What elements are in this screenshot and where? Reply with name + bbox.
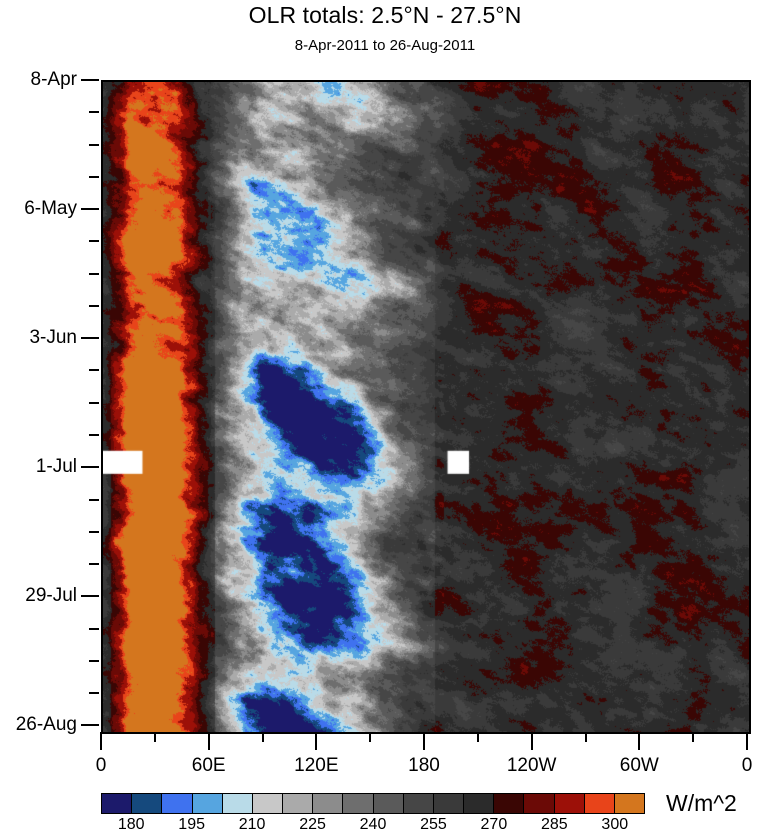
y-axis-tick-label: 29-Jul (25, 585, 77, 607)
colorbar-tick-label: 285 (541, 816, 568, 834)
colorbar-swatch (253, 794, 283, 813)
y-axis-minor-tick (89, 402, 99, 404)
y-axis-tick-label: 26-Aug (16, 714, 77, 736)
x-axis-minor-tick (692, 732, 694, 742)
x-axis-tick-label: 120E (294, 755, 338, 777)
y-axis-minor-tick (89, 692, 99, 694)
y-axis-minor-tick (89, 240, 99, 242)
y-axis-minor-tick (89, 499, 99, 501)
colorbar-tick-label: 240 (360, 816, 387, 834)
colorbar-tick-label: 180 (118, 816, 145, 834)
x-axis-minor-tick (369, 732, 371, 742)
y-axis-tick-label: 6-May (24, 198, 77, 220)
colorbar-swatch (193, 794, 223, 813)
y-axis-major-tick (81, 595, 99, 597)
x-axis-major-tick (746, 732, 748, 750)
x-axis-tick-label: 60E (192, 755, 226, 777)
y-axis-minor-tick (89, 628, 99, 630)
y-axis-major-tick (81, 208, 99, 210)
x-axis-tick-label: 120W (507, 755, 557, 777)
colorbar-swatch (374, 794, 404, 813)
colorbar-swatch (283, 794, 313, 813)
y-axis-tick-label: 1-Jul (36, 456, 77, 478)
x-axis-major-tick (638, 732, 640, 750)
colorbar-units-label: W/m^2 (666, 790, 737, 817)
colorbar-swatch (615, 794, 644, 813)
x-axis-tick-label: 180 (408, 755, 440, 777)
colorbar-swatch (494, 794, 524, 813)
colorbar-swatch (132, 794, 162, 813)
colorbar-tick-label: 195 (178, 816, 205, 834)
x-axis-tick-label: 0 (742, 755, 753, 777)
x-axis-major-tick (100, 732, 102, 750)
y-axis-minor-tick (89, 176, 99, 178)
figure-root: OLR totals: 2.5°N - 27.5°N 8-Apr-2011 to… (0, 0, 770, 834)
hovmoller-heatmap-canvas (103, 82, 749, 732)
x-axis-tick-label: 0 (96, 755, 107, 777)
hovmoller-plot-area (101, 80, 751, 734)
colorbar-swatch (434, 794, 464, 813)
x-axis-major-tick (208, 732, 210, 750)
y-axis-major-tick (81, 466, 99, 468)
colorbar-swatches (101, 793, 645, 814)
y-axis-minor-tick (89, 369, 99, 371)
colorbar-tick-label: 225 (299, 816, 326, 834)
x-axis-minor-tick (585, 732, 587, 742)
page-title: OLR totals: 2.5°N - 27.5°N (0, 2, 770, 29)
x-axis-major-tick (531, 732, 533, 750)
x-axis-minor-tick (262, 732, 264, 742)
colorbar-swatch (524, 794, 554, 813)
x-axis-major-tick (423, 732, 425, 750)
y-axis-minor-tick (89, 434, 99, 436)
colorbar-swatch (313, 794, 343, 813)
x-axis-major-tick (315, 732, 317, 750)
colorbar-tick-label: 255 (420, 816, 447, 834)
colorbar-tick-label: 270 (481, 816, 508, 834)
x-axis-minor-tick (154, 732, 156, 742)
y-axis-tick-label: 3-Jun (29, 327, 77, 349)
y-axis-minor-tick (89, 144, 99, 146)
colorbar-swatch (162, 794, 192, 813)
colorbar-swatch (102, 794, 132, 813)
y-axis-minor-tick (89, 305, 99, 307)
y-axis-major-tick (81, 724, 99, 726)
x-axis-tick-label: 60W (620, 755, 659, 777)
colorbar-tick-label: 210 (239, 816, 266, 834)
x-axis-minor-tick (477, 732, 479, 742)
colorbar-swatch (555, 794, 585, 813)
y-axis-minor-tick (89, 531, 99, 533)
colorbar-swatch (404, 794, 434, 813)
y-axis-minor-tick (89, 273, 99, 275)
colorbar-swatch (343, 794, 373, 813)
y-axis-minor-tick (89, 111, 99, 113)
colorbar-swatch (585, 794, 615, 813)
colorbar-tick-label: 300 (601, 816, 628, 834)
y-axis-tick-label: 8-Apr (31, 69, 77, 91)
y-axis-minor-tick (89, 660, 99, 662)
y-axis-major-tick (81, 337, 99, 339)
y-axis-minor-tick (89, 563, 99, 565)
colorbar-swatch (223, 794, 253, 813)
colorbar (101, 793, 645, 814)
colorbar-swatch (464, 794, 494, 813)
y-axis-major-tick (81, 79, 99, 81)
figure-subtitle: 8-Apr-2011 to 26-Aug-2011 (0, 37, 770, 54)
